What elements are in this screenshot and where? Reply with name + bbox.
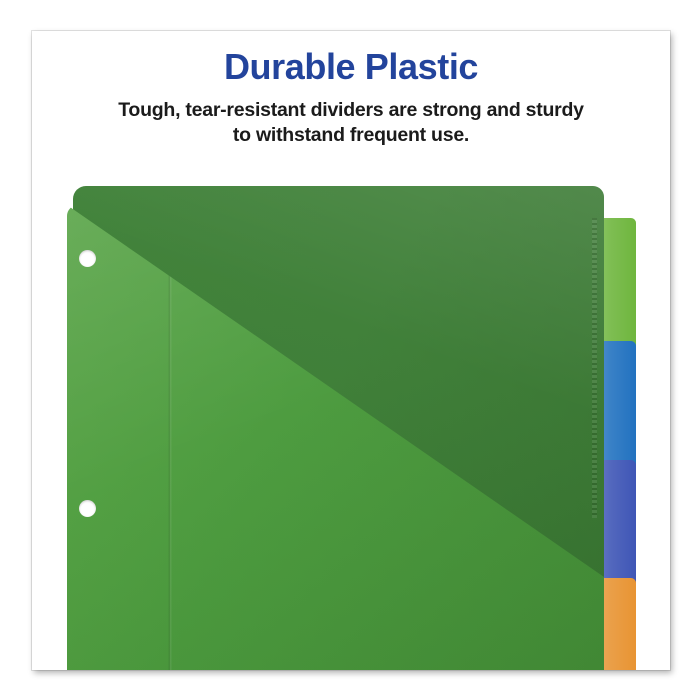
headline-block: Durable Plastic Tough, tear-resistant di… bbox=[32, 47, 670, 148]
top-punch-hole bbox=[79, 250, 96, 267]
bottom-punch-hole bbox=[79, 500, 96, 517]
product-card: Durable Plastic Tough, tear-resistant di… bbox=[32, 31, 670, 670]
headline-subtitle-line-1: Tough, tear-resistant dividers are stron… bbox=[118, 99, 584, 121]
product-image-canvas: Durable Plastic Tough, tear-resistant di… bbox=[0, 0, 700, 700]
page-title: Durable Plastic bbox=[32, 47, 670, 87]
headline-subtitle: Tough, tear-resistant dividers are stron… bbox=[71, 98, 631, 148]
pocket-perforation-strip bbox=[592, 218, 597, 518]
headline-subtitle-line-2: to withstand frequent use. bbox=[233, 124, 469, 146]
